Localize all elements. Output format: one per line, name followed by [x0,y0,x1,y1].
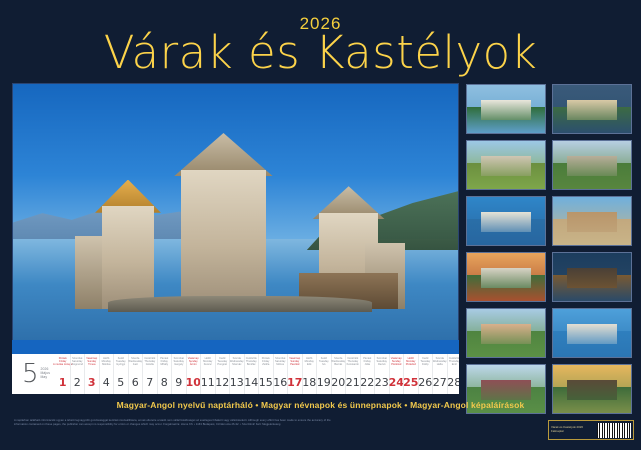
day-nameday: Bernát [334,363,342,366]
castle-rock-base [108,296,371,313]
day-nameday: Paszkál [290,363,299,366]
thumb-building [567,156,617,175]
calendar-days[interactable]: PéntekFridayA munka ünnepe1SzombatSaturd… [56,354,459,394]
day-number: 15 [259,376,273,389]
day-nameday: Emil [452,363,457,366]
calendar-day-8[interactable]: PéntekFridayMihály8 [158,354,172,394]
thumb-building [567,212,617,231]
footer-fineprint: A naptárban található információk ugyan … [14,419,344,427]
thumb-chateau-lake[interactable] [466,84,546,134]
day-nameday: Zsófia [262,363,269,366]
calendar-day-22[interactable]: PéntekFridayJúlia22 [361,354,375,394]
thumb-building [481,268,531,287]
day-nameday: Zsigmond [72,363,83,366]
product-label: Várak és Kastélyok 2026 Falinaptár [551,426,594,434]
day-number: 25 [403,376,418,389]
thumb-lakeside-castle[interactable] [466,196,546,246]
calendar-day-18[interactable]: HétfőMondayErik18 [303,354,317,394]
day-nameday: Konstantin [347,363,359,366]
day-nameday: Mónika [102,363,110,366]
day-number: 21 [346,376,360,389]
calendar-day-7[interactable]: CsütörtökThursdayGizella7 [143,354,157,394]
calendar-day-10[interactable]: VasárnapSundayÁrmin10 [187,354,201,394]
barcode-icon [597,423,631,438]
calendar-day-16[interactable]: SzombatSaturdayMózes16 [274,354,288,394]
day-nameday: Szervác [232,363,241,366]
day-number: 6 [132,376,139,389]
calendar-day-14[interactable]: CsütörtökThursdayBonifác14 [245,354,259,394]
thumb-aerial-fortress[interactable] [552,84,632,134]
day-nameday: Ivó [322,363,325,366]
day-number: 20 [331,376,345,389]
month-number: 5 [22,361,39,387]
calendar-day-6[interactable]: SzerdaWednesdayIvett6 [129,354,143,394]
thumb-ruin-coast[interactable] [552,252,632,302]
calendar-day-3[interactable]: VasárnapSundayTímea3 [85,354,99,394]
calendar-blue-band [12,340,459,354]
thumb-building [481,212,531,231]
day-nameday: Györgyi [116,363,125,366]
month-indicator: 5 2026 Május May [12,354,56,394]
day-number: 5 [117,376,124,389]
day-nameday: Gergely [174,363,183,366]
calendar-day-1[interactable]: PéntekFridayA munka ünnepe1 [56,354,70,394]
calendar-day-12[interactable]: KeddTuesdayPongrác12 [216,354,230,394]
castle-tower-left [102,206,155,309]
day-nameday: Júlia [365,363,370,366]
calendar-day-24[interactable]: VasárnapSundayPünkösd24 [390,354,404,394]
chillon-castle-photo [12,83,459,353]
day-number: 28 [447,376,459,389]
calendar-day-4[interactable]: HétfőMondayMónika4 [100,354,114,394]
calendar-day-19[interactable]: KeddTuesdayIvó19 [317,354,331,394]
thumbnail-grid[interactable] [466,84,632,414]
day-number: 16 [273,376,287,389]
day-number: 18 [302,376,316,389]
day-number: 27 [433,376,447,389]
calendar-day-21[interactable]: CsütörtökThursdayKonstantin21 [346,354,360,394]
day-nameday: Hella [437,363,443,366]
calendar-day-26[interactable]: KeddTuesdayFülöp26 [419,354,433,394]
product-barcode-box: Várak és Kastélyok 2026 Falinaptár [548,420,634,440]
day-nameday: Ivett [133,363,138,366]
calendar-day-13[interactable]: SzerdaWednesdaySzervác13 [230,354,244,394]
day-nameday: Gizella [146,363,154,366]
footer-tagline: Magyar-Angol nyelvű naptárháló • Magyar … [0,400,641,410]
day-number: 10 [186,376,201,389]
day-nameday: Pongrác [217,363,227,366]
calendar-day-15[interactable]: PéntekFridayZsófia15 [259,354,273,394]
calendar-day-28[interactable]: CsütörtökThursdayEmil28 [448,354,460,394]
calendar-day-11[interactable]: HétfőMondayFerenc11 [201,354,215,394]
day-nameday: Mózes [276,363,284,366]
calendar-day-25[interactable]: HétfőMondayPünkösd25 [404,354,418,394]
calendar-day-5[interactable]: KeddTuesdayGyörgyi5 [114,354,128,394]
day-nameday: Erik [307,363,311,366]
day-number: 26 [418,376,432,389]
thumb-building [481,380,531,399]
day-number: 17 [287,376,302,389]
day-number: 23 [375,376,389,389]
thumb-twin-tower-castle[interactable] [466,140,546,190]
day-nameday: Dezső [378,363,385,366]
day-number: 14 [244,376,258,389]
day-number: 4 [103,376,110,389]
thumb-building [567,380,617,399]
page-title: Várak és Kastélyok [0,26,641,79]
thumb-building [567,324,617,343]
day-number: 22 [360,376,374,389]
thumb-hilltop-castle[interactable] [552,140,632,190]
calendar-day-20[interactable]: SzerdaWednesdayBernát20 [332,354,346,394]
thumb-building [567,100,617,119]
month-meta-en: May [41,376,51,380]
day-number: 12 [215,376,229,389]
photo-castle [75,143,404,309]
calendar-day-2[interactable]: SzombatSaturdayZsigmond2 [71,354,85,394]
day-nameday: Pünkösd [391,363,401,366]
thumb-island-fortress[interactable] [552,308,632,358]
day-nameday: Mihály [161,363,169,366]
product-type: Falinaptár [551,430,594,434]
poster-header: 2026 Várak és Kastélyok [0,0,641,80]
day-number: 8 [161,376,168,389]
thumb-building [481,324,531,343]
thumb-building [481,156,531,175]
day-number: 19 [317,376,331,389]
day-number: 13 [230,376,244,389]
month-meta: 2026 Május May [41,368,51,379]
thumb-japanese-castle[interactable] [466,252,546,302]
calendar-strip[interactable]: 5 2026 Május May PéntekFridayA munka ünn… [12,354,459,394]
day-nameday: Ferenc [204,363,212,366]
day-number: 11 [201,376,215,389]
calendar-day-9[interactable]: SzombatSaturdayGergely9 [172,354,186,394]
thumb-palace-courtyard[interactable] [552,196,632,246]
day-nameday: Ármin [190,363,197,366]
thumb-building [481,100,531,119]
day-nameday: Tímea [88,363,95,366]
day-number: 2 [74,376,81,389]
day-nameday: Bonifác [247,363,256,366]
day-nameday: Pünkösd [406,363,416,366]
calendar-day-23[interactable]: SzombatSaturdayDezső23 [375,354,389,394]
day-nameday: Fülöp [422,363,429,366]
day-number: 24 [389,376,404,389]
day-number: 7 [146,376,153,389]
calendar-day-27[interactable]: SzerdaWednesdayHella27 [433,354,447,394]
day-number: 1 [59,376,67,389]
thumb-building [567,268,617,287]
castle-keep [181,170,267,310]
day-number: 3 [88,376,96,389]
day-number: 9 [175,376,182,389]
calendar-day-17[interactable]: VasárnapSundayPaszkál17 [288,354,302,394]
thumb-pink-manor[interactable] [466,308,546,358]
